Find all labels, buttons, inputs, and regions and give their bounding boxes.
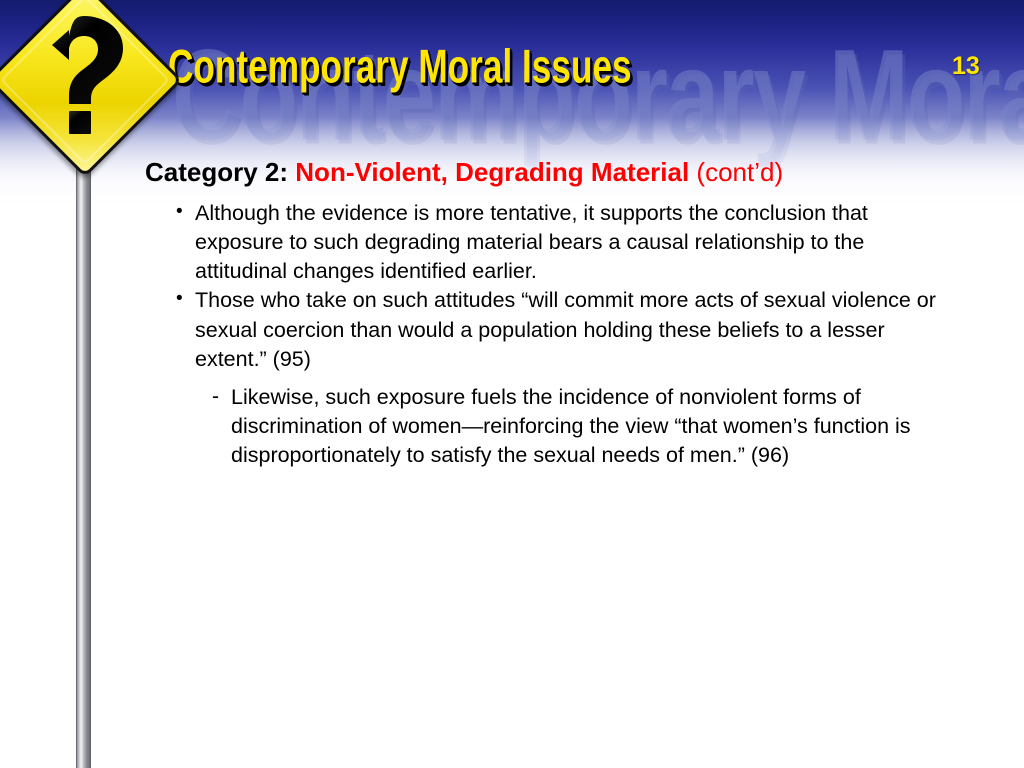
slide-number: 13: [952, 52, 980, 81]
slide-title: Contemporary Moral Issues: [168, 41, 632, 94]
sign-pole: [76, 120, 91, 768]
list-item-text: Those who take on such attitudes “will c…: [195, 286, 955, 373]
category-heading: Category 2: Non-Violent, Degrading Mater…: [145, 158, 783, 188]
dash-marker-icon: -: [212, 383, 231, 411]
list-item: • Although the evidence is more tentativ…: [176, 199, 981, 286]
sub-list-item: - Likewise, such exposure fuels the inci…: [212, 383, 981, 470]
list-item-text: Although the evidence is more tentative,…: [195, 199, 955, 286]
presentation-slide: Contemporary Moral Issues Contemporary M…: [0, 0, 1024, 768]
bullet-marker-icon: •: [176, 286, 195, 313]
category-label: Category 2:: [145, 157, 288, 187]
category-topic: Non-Violent, Degrading Material: [295, 157, 689, 187]
slide-body-content: • Although the evidence is more tentativ…: [176, 199, 981, 470]
sub-list-item-text: Likewise, such exposure fuels the incide…: [231, 383, 979, 470]
list-item: • Those who take on such attitudes “will…: [176, 286, 981, 373]
bullet-marker-icon: •: [176, 199, 195, 226]
category-continued-marker: (cont’d): [696, 157, 783, 187]
